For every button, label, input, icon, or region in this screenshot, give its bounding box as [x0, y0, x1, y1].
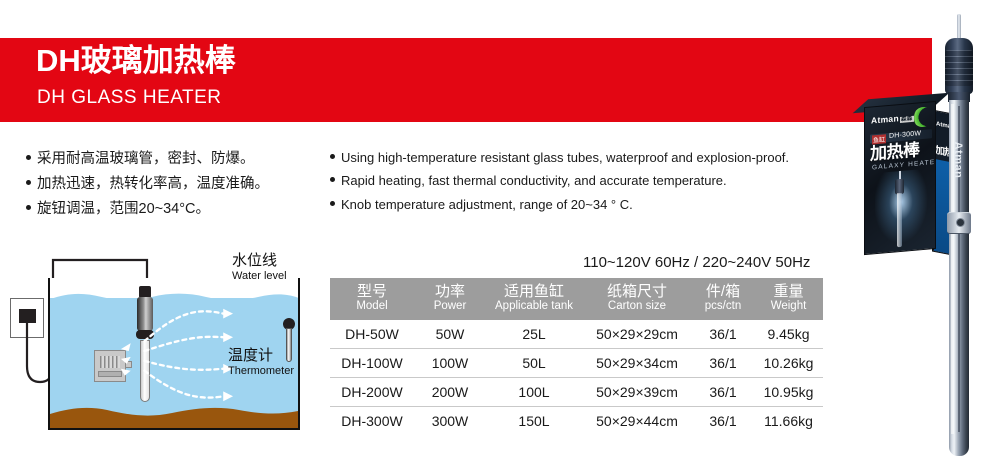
feature-item: 旋钮调温，范围20~34°C。 — [26, 200, 326, 218]
page-subtitle: DH GLASS HEATER — [37, 88, 222, 107]
brand-logo-cn: 森森 — [900, 116, 914, 123]
feature-text: 采用耐高温玻璃管，密封、防爆。 — [37, 150, 255, 168]
package-rod-tube — [897, 193, 902, 247]
column-header-pcs: 件/箱 pcs/ctn — [692, 278, 754, 320]
bullet-icon — [26, 155, 31, 160]
cell-power: 200W — [414, 378, 486, 407]
water-level-label-en: Water level — [232, 270, 287, 283]
table-header-row: 型号 Model 功率 Power 适用鱼缸 Applicable tank 纸… — [330, 278, 823, 320]
product-photos: Atman 加热棒 Atman森森 鱼缸 DH-300W 加热棒 GALAXY … — [856, 8, 1000, 460]
wall-socket-icon — [10, 298, 44, 338]
crescent-logo-icon — [913, 106, 933, 128]
cell-tank: 150L — [486, 407, 582, 436]
thermometer-label: 温度计 Thermometer — [228, 348, 294, 378]
rod-tip — [957, 14, 961, 40]
package-title-cn: 加热棒 — [870, 141, 920, 162]
cell-tank: 50L — [486, 349, 582, 378]
cell-carton: 50×29×44cm — [582, 407, 692, 436]
cell-carton: 50×29×39cm — [582, 378, 692, 407]
bullet-icon — [330, 201, 335, 206]
heater-rod-photo: Atman — [942, 14, 978, 460]
feature-item: Rapid heating, fast thermal conductivity… — [330, 173, 830, 189]
package-box-front: Atman森森 鱼缸 DH-300W 加热棒 GALAXY HEATER — [864, 101, 936, 255]
feature-text: Knob temperature adjustment, range of 20… — [341, 197, 633, 213]
column-header-weight: 重量 Weight — [754, 278, 823, 320]
product-spec-sheet: DH玻璃加热棒 DH GLASS HEATER 采用耐高温玻璃管，密封、防爆。 … — [0, 0, 1000, 468]
bullet-icon — [26, 180, 31, 185]
rod-cap-ribs — [945, 50, 973, 86]
bullet-icon — [330, 177, 335, 182]
thermometer-label-en: Thermometer — [228, 365, 294, 378]
table-row: DH-100W 100W 50L 50×29×34cm 36/1 10.26kg — [330, 349, 823, 378]
cell-tank: 100L — [486, 378, 582, 407]
rod-adjust-screw — [956, 218, 965, 227]
bullet-icon — [330, 154, 335, 159]
cell-pcs: 36/1 — [692, 407, 754, 436]
thermometer-label-cn: 温度计 — [228, 348, 294, 365]
feature-item: Knob temperature adjustment, range of 20… — [330, 197, 830, 213]
cell-model: DH-300W — [330, 407, 414, 436]
cell-power: 300W — [414, 407, 486, 436]
feature-text: Using high-temperature resistant glass t… — [341, 150, 789, 166]
cell-tank: 25L — [486, 320, 582, 349]
cell-power: 100W — [414, 349, 486, 378]
cell-model: DH-50W — [330, 320, 414, 349]
rod-brand-label: Atman — [952, 132, 964, 188]
bullet-icon — [26, 205, 31, 210]
brand-logo: Atman森森 — [871, 112, 914, 126]
plug-icon — [19, 309, 36, 323]
cell-carton: 50×29×34cm — [582, 349, 692, 378]
cell-pcs: 36/1 — [692, 320, 754, 349]
table-row: DH-200W 200W 100L 50×29×39cm 36/1 10.95k… — [330, 378, 823, 407]
cell-pcs: 36/1 — [692, 378, 754, 407]
feature-list-chinese: 采用耐高温玻璃管，密封、防爆。 加热迅速，热转化率高，温度准确。 旋钮调温，范围… — [26, 150, 326, 225]
water-level-label: 水位线 Water level — [232, 253, 287, 283]
feature-text: 旋钮调温，范围20~34°C。 — [37, 200, 210, 218]
feature-item: Using high-temperature resistant glass t… — [330, 150, 830, 166]
table-row: DH-50W 50W 25L 50×29×29cm 36/1 9.45kg — [330, 320, 823, 349]
cell-carton: 50×29×29cm — [582, 320, 692, 349]
page-title: DH玻璃加热棒 — [36, 45, 236, 76]
cell-weight: 10.95kg — [754, 378, 823, 407]
aquarium-diagram: 水位线 Water level 温度计 Thermometer — [10, 258, 320, 448]
column-header-model: 型号 Model — [330, 278, 414, 320]
cell-power: 50W — [414, 320, 486, 349]
column-header-power: 功率 Power — [414, 278, 486, 320]
feature-text: 加热迅速，热转化率高，温度准确。 — [37, 175, 269, 193]
table-row: DH-300W 300W 150L 50×29×44cm 36/1 11.66k… — [330, 407, 823, 436]
cell-weight: 10.26kg — [754, 349, 823, 378]
cell-model: DH-200W — [330, 378, 414, 407]
feature-list-english: Using high-temperature resistant glass t… — [330, 150, 830, 220]
cell-weight: 11.66kg — [754, 407, 823, 436]
feature-item: 加热迅速，热转化率高，温度准确。 — [26, 175, 326, 193]
cell-weight: 9.45kg — [754, 320, 823, 349]
water-level-label-cn: 水位线 — [232, 253, 287, 270]
voltage-note: 110~120V 60Hz / 220~240V 50Hz — [583, 254, 810, 271]
column-header-carton: 纸箱尺寸 Carton size — [582, 278, 692, 320]
column-header-tank: 适用鱼缸 Applicable tank — [486, 278, 582, 320]
feature-item: 采用耐高温玻璃管，密封、防爆。 — [26, 150, 326, 168]
package-rod-image — [895, 171, 904, 248]
cell-model: DH-100W — [330, 349, 414, 378]
cell-pcs: 36/1 — [692, 349, 754, 378]
feature-text: Rapid heating, fast thermal conductivity… — [341, 173, 727, 189]
specification-table: 型号 Model 功率 Power 适用鱼缸 Applicable tank 纸… — [330, 278, 823, 435]
